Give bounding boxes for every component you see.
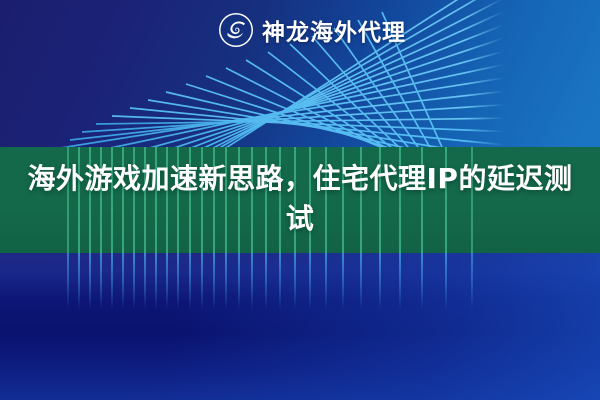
title-line-1: 海外游戏加速新思路，住宅代理IP的 xyxy=(28,162,487,195)
brand-logo: 神龙海外代理 xyxy=(218,10,406,50)
brand-name: 神龙海外代理 xyxy=(262,13,406,47)
swirl-wave-circle-icon xyxy=(218,12,254,48)
banner-image: 神龙海外代理 海外游戏加速新思路，住宅代理IP的延迟测试 xyxy=(0,0,600,400)
page-title: 海外游戏加速新思路，住宅代理IP的延迟测试 xyxy=(0,159,600,239)
floor-line-decoration xyxy=(46,250,506,310)
